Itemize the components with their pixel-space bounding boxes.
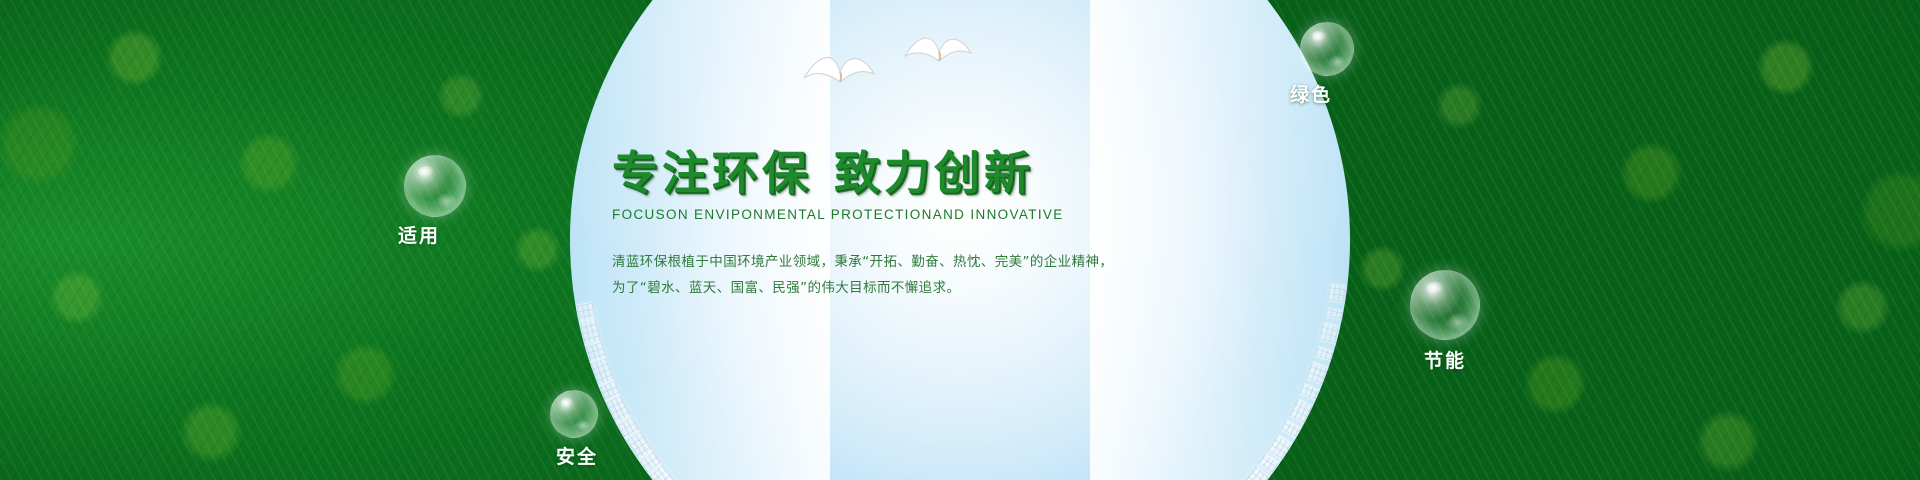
bubble-label-green: 绿色 (1290, 80, 1332, 107)
bubble-icon (1300, 22, 1354, 76)
bird-right-icon (902, 30, 974, 74)
hero-description-line-2: 为了“碧水、蓝天、国富、民强”的伟大目标而不懈追求。 (612, 275, 1312, 301)
headline-part-1: 专注环保 (612, 146, 812, 200)
bubble-group-green: 绿色 (1300, 22, 1354, 76)
bubble-icon (550, 390, 598, 438)
headline-part-2: 致力创新 (834, 146, 1034, 200)
bird-left-icon (800, 48, 878, 94)
page-title: 专注环保致力创新 (612, 150, 1312, 196)
bubble-group-suitable: 适用 (404, 155, 466, 217)
hero-banner: 专注环保致力创新 FOCUSON ENVIPONMENTAL PROTECTIO… (0, 0, 1920, 480)
page-subtitle: FOCUSON ENVIPONMENTAL PROTECTIONAND INNO… (612, 207, 1312, 222)
bubble-label-energy: 节能 (1424, 346, 1466, 373)
bubble-icon (404, 155, 466, 217)
bubble-group-safety: 安全 (550, 390, 598, 438)
hero-description-line-1: 清蓝环保根植于中国环境产业领域，秉承“开拓、勤奋、热忱、完美”的企业精神， (612, 249, 1312, 275)
bubble-group-energy: 节能 (1410, 270, 1480, 340)
city-buildings (570, 334, 1350, 480)
bubble-label-safety: 安全 (556, 442, 598, 469)
bubble-icon (1410, 270, 1480, 340)
hero-text-block: 专注环保致力创新 FOCUSON ENVIPONMENTAL PROTECTIO… (612, 150, 1312, 301)
hero-description: 清蓝环保根植于中国环境产业领域，秉承“开拓、勤奋、热忱、完美”的企业精神， 为了… (612, 249, 1312, 301)
bubble-label-suitable: 适用 (398, 221, 440, 248)
